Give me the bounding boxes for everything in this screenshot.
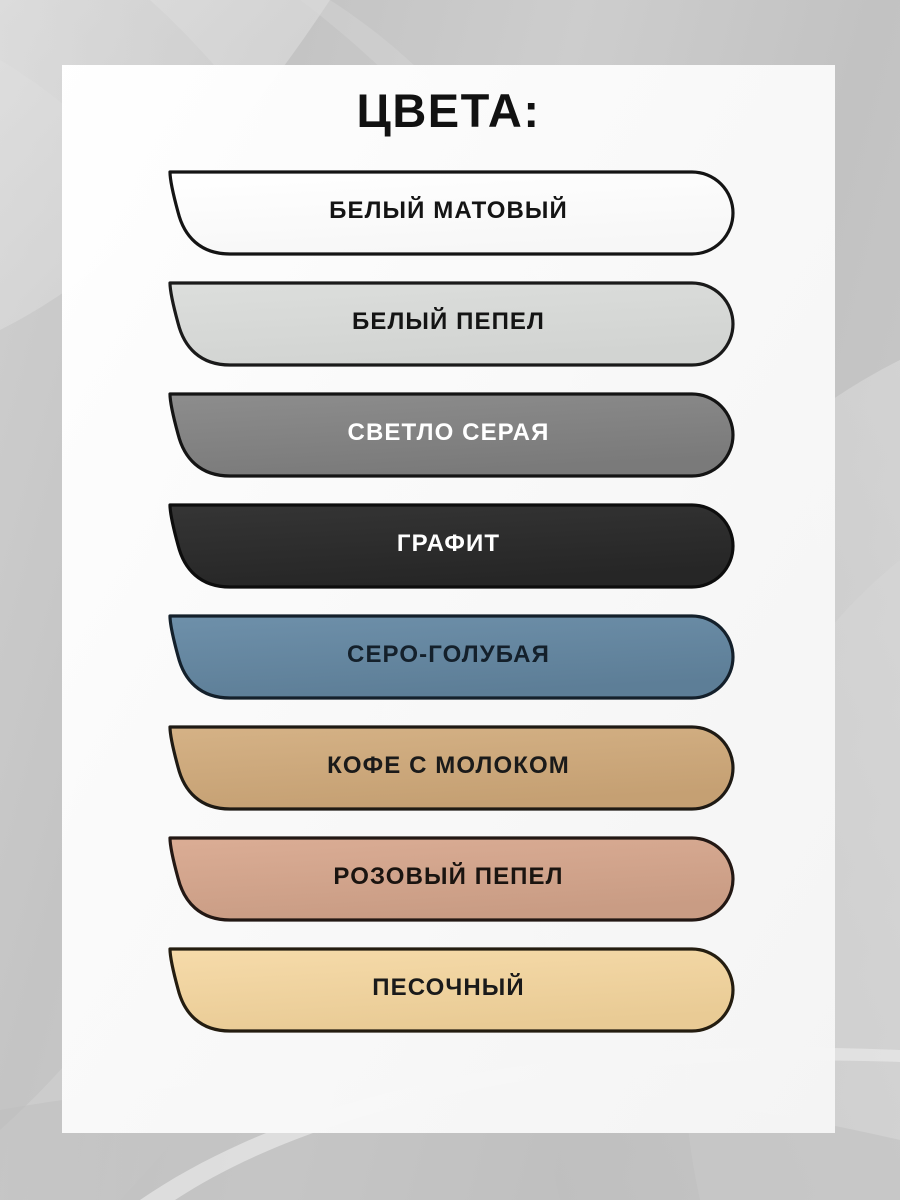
swatch-row[interactable]: БЕЛЫЙ МАТОВЫЙ (62, 168, 835, 279)
swatch-shape (170, 394, 733, 476)
swatch-row[interactable]: КОФЕ С МОЛОКОМ (62, 723, 835, 834)
swatch-row[interactable]: ГРАФИТ (62, 501, 835, 612)
swatch-shape (170, 838, 733, 920)
swatch-shape (170, 616, 733, 698)
swatch-row[interactable]: ПЕСОЧНЫЙ (62, 945, 835, 1056)
swatch-list: БЕЛЫЙ МАТОВЫЙ БЕЛЫЙ ПЕПЕЛ (62, 168, 835, 1108)
swatch-shape (170, 172, 733, 254)
swatch-shape (170, 727, 733, 809)
color-palette-poster: ЦВЕТА: БЕЛЫЙ МАТОВЫЙ (0, 0, 900, 1200)
swatch-row[interactable]: СЕРО-ГОЛУБАЯ (62, 612, 835, 723)
swatch-row[interactable]: РОЗОВЫЙ ПЕПЕЛ (62, 834, 835, 945)
palette-card-panel: ЦВЕТА: БЕЛЫЙ МАТОВЫЙ (62, 65, 835, 1133)
swatch-row[interactable]: СВЕТЛО СЕРАЯ (62, 390, 835, 501)
page-title: ЦВЕТА: (62, 87, 835, 134)
swatch-shape (170, 949, 733, 1031)
swatch-row[interactable]: БЕЛЫЙ ПЕПЕЛ (62, 279, 835, 390)
swatch-shape (170, 505, 733, 587)
swatch-shape (170, 283, 733, 365)
